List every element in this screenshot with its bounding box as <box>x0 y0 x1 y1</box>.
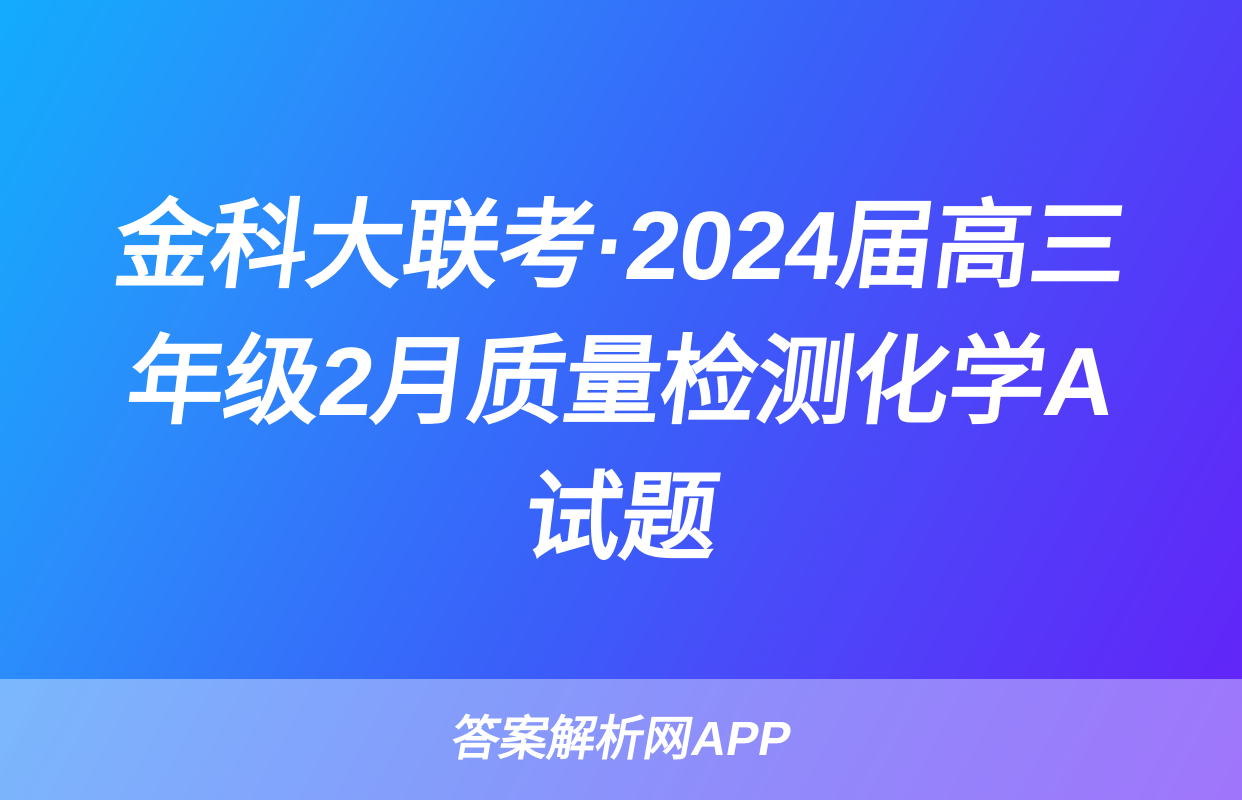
title-line-3: 试题 <box>32 450 1211 586</box>
exam-cover-card: 金科大联考·2024届高三 年级2月质量检测化学A 试题 答案解析网APP <box>0 0 1242 800</box>
title-line-1: 金科大联考·2024届高三 <box>32 178 1211 314</box>
title-line-2: 年级2月质量检测化学A <box>32 314 1211 450</box>
app-watermark-label: 答案解析网APP <box>447 714 795 766</box>
footer-watermark-band: 答案解析网APP <box>0 679 1242 800</box>
page-title: 金科大联考·2024届高三 年级2月质量检测化学A 试题 <box>0 178 1242 586</box>
